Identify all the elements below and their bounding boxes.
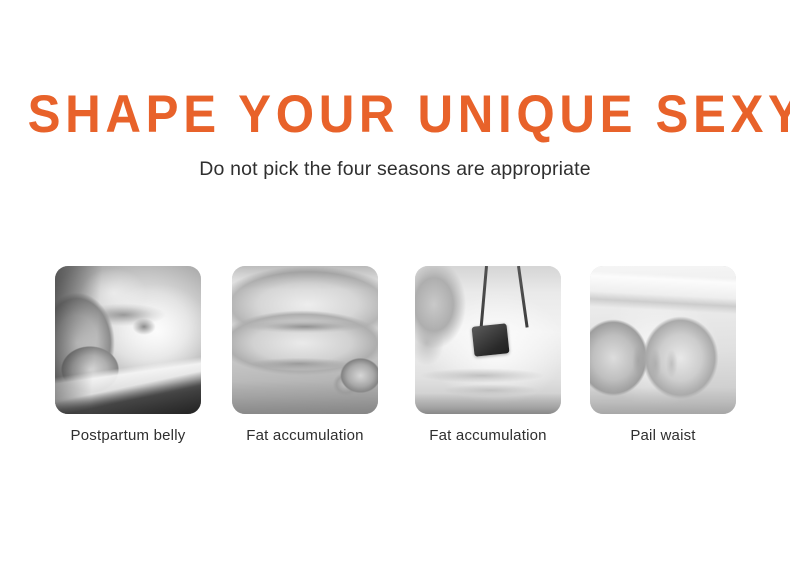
page-headline: SHAPE YOUR UNIQUE SEXY	[28, 88, 763, 142]
postpartum-belly-photo	[55, 266, 201, 414]
promo-banner: SHAPE YOUR UNIQUE SEXY Do not pick the f…	[0, 0, 790, 573]
gallery-item-fat-accumulation-shirt: Fat accumulation	[415, 266, 561, 445]
gallery-row: Postpartum belly Fat accumulation	[0, 266, 790, 456]
gallery-caption: Fat accumulation	[209, 427, 401, 445]
photo-layer-shadow	[55, 266, 201, 414]
gallery-item-postpartum-belly: Postpartum belly	[55, 266, 201, 445]
gallery-item-fat-accumulation-side: Fat accumulation	[232, 266, 378, 445]
gallery-caption: Fat accumulation	[392, 427, 584, 445]
gallery-item-pail-waist: Pail waist	[590, 266, 736, 445]
photo-layer-shadow	[415, 266, 561, 414]
fat-accumulation-shirt-photo	[415, 266, 561, 414]
gallery-caption: Postpartum belly	[34, 427, 222, 445]
photo-layer-shadow	[232, 266, 378, 414]
gallery-caption: Pail waist	[579, 427, 747, 445]
fat-accumulation-side-photo	[232, 266, 378, 414]
photo-layer-shadow	[590, 266, 736, 414]
page-subtitle: Do not pick the four seasons are appropr…	[0, 157, 790, 181]
pail-waist-photo	[590, 266, 736, 414]
